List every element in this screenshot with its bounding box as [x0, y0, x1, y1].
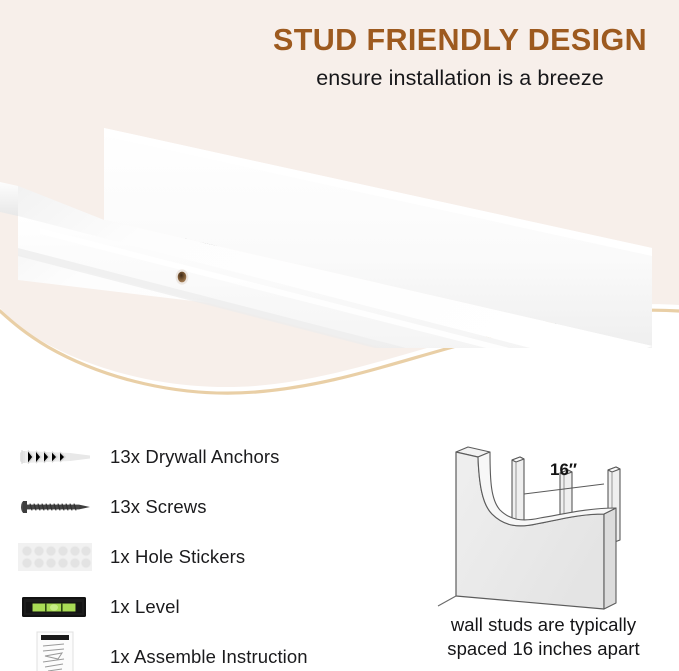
- product-infographic: STUD FRIENDLY DESIGN ensure installation…: [0, 0, 679, 671]
- list-item: 1x Hole Stickers: [0, 532, 400, 582]
- instruction-icon: [0, 634, 110, 671]
- list-item-label: 13x Drywall Anchors: [110, 446, 280, 468]
- stud-caption-line-2: spaced 16 inches apart: [408, 637, 679, 661]
- stud-diagram: 16″: [408, 428, 679, 613]
- shelf-illustration: 16″: [0, 108, 679, 348]
- page-title: STUD FRIENDLY DESIGN: [248, 24, 672, 57]
- list-item: 13x Drywall Anchors: [0, 432, 400, 482]
- hole-stickers-icon: [0, 534, 110, 580]
- list-item-label: 1x Hole Stickers: [110, 546, 245, 568]
- list-item: 1x Assemble Instruction: [0, 632, 400, 671]
- stud-caption-line-1: wall studs are typically: [408, 613, 679, 637]
- stud-diagram-caption: wall studs are typically spaced 16 inche…: [408, 613, 679, 660]
- drywall-sheet: [438, 447, 616, 609]
- drywall-anchor-icon: [0, 434, 110, 480]
- stud-dimension-label: 16″: [550, 460, 577, 479]
- hero-panel: STUD FRIENDLY DESIGN ensure installation…: [0, 0, 679, 420]
- bottom-section: 13x Drywall Anchors: [0, 420, 679, 671]
- list-item: 13x Screws: [0, 482, 400, 532]
- list-item-label: 1x Level: [110, 596, 180, 618]
- heading-block: STUD FRIENDLY DESIGN ensure installation…: [248, 24, 672, 91]
- page-subtitle: ensure installation is a breeze: [248, 66, 672, 91]
- screw-icon: [0, 484, 110, 530]
- shelf-body: [0, 128, 652, 348]
- list-item-label: 13x Screws: [110, 496, 207, 518]
- level-icon: [0, 584, 110, 630]
- mounting-hole-left: [176, 269, 189, 284]
- list-item-label: 1x Assemble Instruction: [110, 646, 308, 668]
- list-item: 1x Level: [0, 582, 400, 632]
